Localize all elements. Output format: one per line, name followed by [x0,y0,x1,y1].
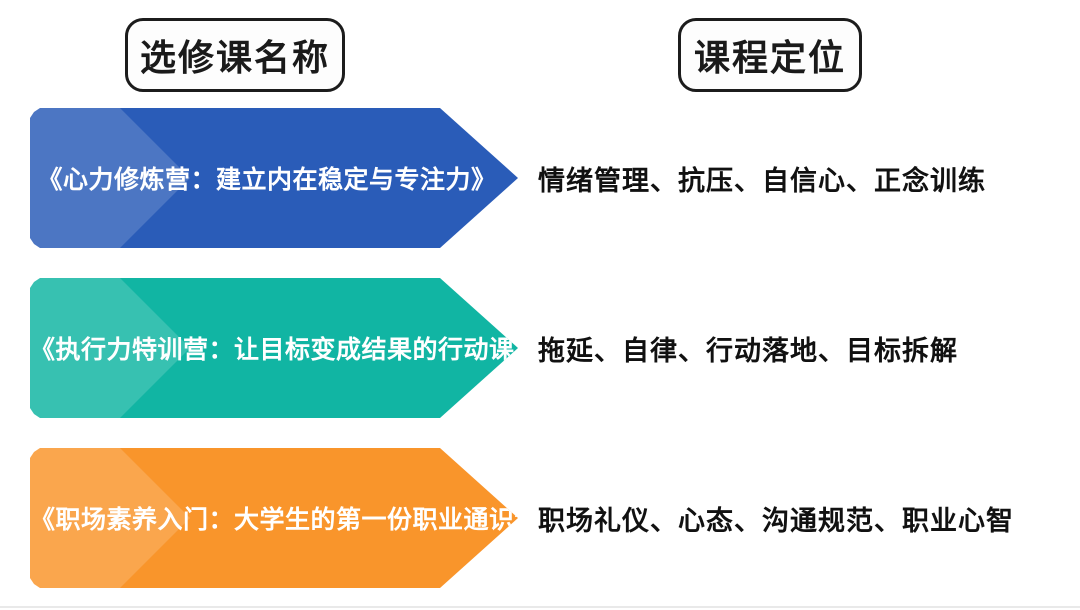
course-row: 《职场素养入门：大学生的第一份职业通识课》 职场礼仪、心态、沟通规范、职业心智 [0,448,1080,588]
bottom-divider [0,606,1080,608]
header-pill-course-position: 课程定位 [678,18,862,92]
course-position-text: 情绪管理、抗压、自信心、正念训练 [538,108,986,248]
course-row: 《心力修炼营：建立内在稳定与专注力》 情绪管理、抗压、自信心、正念训练 [0,108,1080,248]
header-pill-course-position-label: 课程定位 [694,29,846,81]
course-arrow-banner: 《执行力特训营：让目标变成结果的行动课》 [30,278,518,418]
course-arrow-banner: 《职场素养入门：大学生的第一份职业通识课》 [30,448,518,588]
course-position-text: 职场礼仪、心态、沟通规范、职业心智 [538,448,1014,588]
course-position-text: 拖延、自律、行动落地、目标拆解 [538,278,958,418]
course-name-label: 《心力修炼营：建立内在稳定与专注力》 [30,160,518,196]
course-row: 《执行力特训营：让目标变成结果的行动课》 拖延、自律、行动落地、目标拆解 [0,278,1080,418]
course-name-label: 《职场素养入门：大学生的第一份职业通识课》 [30,500,518,536]
course-arrow-banner: 《心力修炼营：建立内在稳定与专注力》 [30,108,518,248]
header-pill-course-name-label: 选修课名称 [140,29,330,81]
slide-canvas: 选修课名称 课程定位 《心力修炼营：建立内在稳定与专注力》 情绪管理、抗压、自信… [0,0,1080,610]
course-name-label: 《执行力特训营：让目标变成结果的行动课》 [30,330,518,366]
header-pill-course-name: 选修课名称 [125,18,345,92]
